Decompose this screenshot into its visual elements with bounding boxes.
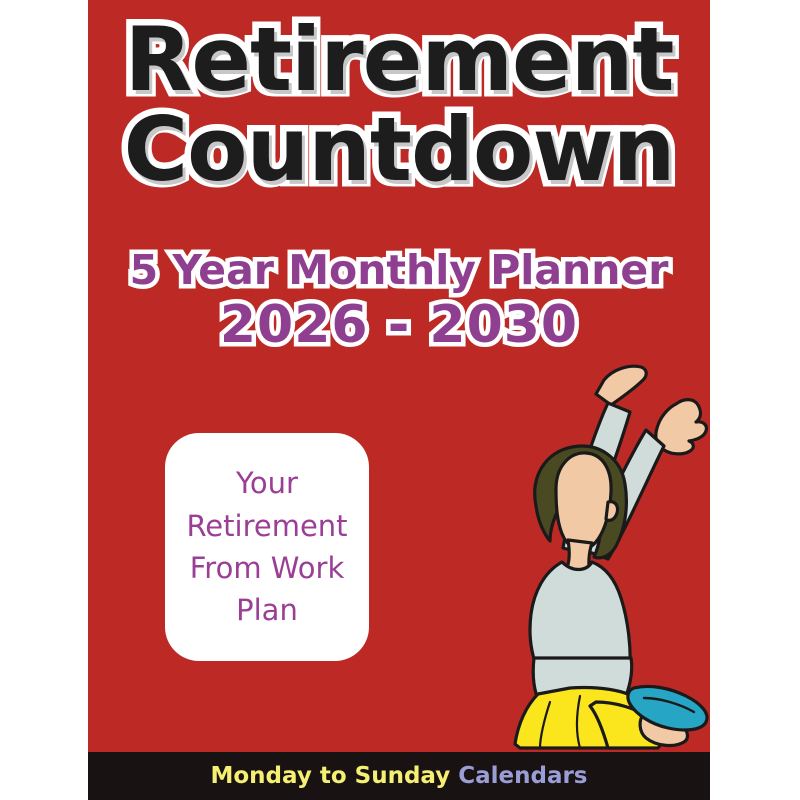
callout-line-2: Retirement — [186, 505, 347, 547]
callout-box: Your Retirement From Work Plan — [165, 433, 369, 661]
callout-line-4: Plan — [236, 589, 298, 631]
jumping-woman-illustration — [458, 358, 710, 748]
book-cover-image: Retirement Countdown 5 Year Monthly Plan… — [0, 0, 800, 800]
jumping-woman-svg — [458, 358, 710, 748]
title-line-countdown: Countdown — [88, 108, 710, 192]
callout-line-3: From Work — [190, 547, 345, 589]
bottom-publisher-band: Monday to Sunday Calendars — [88, 752, 710, 800]
band-text-monday-to-sunday: Monday to Sunday — [210, 763, 450, 789]
cover-title: Retirement Countdown — [88, 18, 710, 191]
left-hand — [596, 366, 646, 405]
subtitle-planner-text: 5 Year Monthly Planner — [88, 250, 710, 291]
cover-panel: Retirement Countdown 5 Year Monthly Plan… — [88, 0, 710, 800]
cover-subtitle: 5 Year Monthly Planner 2026 - 2030 — [88, 250, 710, 351]
title-line-retirement: Retirement — [88, 18, 710, 102]
subtitle-year-range: 2026 - 2030 — [88, 299, 710, 351]
band-text-calendars: Calendars — [458, 763, 587, 789]
ear — [606, 502, 618, 521]
callout-line-1: Your — [236, 462, 298, 504]
